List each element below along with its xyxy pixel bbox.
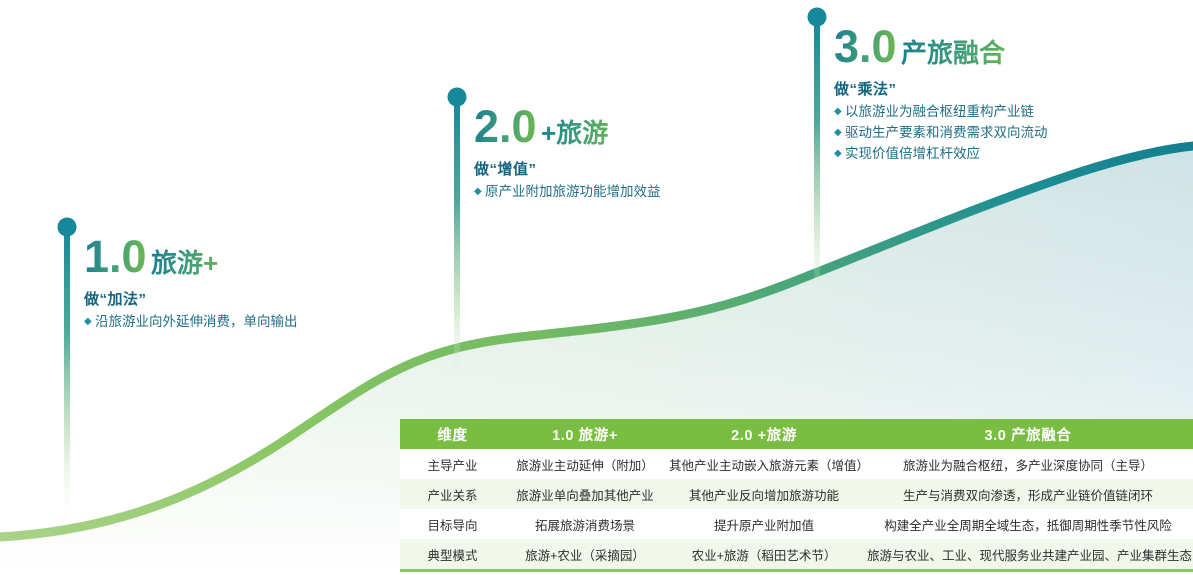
stage-title-2: +旅游 [541, 119, 608, 149]
cell-stage2: 农业+旅游（稻田艺术节） [665, 539, 863, 571]
cell-stage1: 旅游+农业（采摘园） [505, 539, 665, 571]
bullet-text: 以旅游业为融合枢纽重构产业链 [845, 104, 1034, 119]
cell-stage2: 其他产业主动嵌入旅游元素（增值） [665, 449, 863, 479]
stage-stem-1 [64, 228, 70, 528]
cell-stage1: 旅游业主动延伸（附加） [505, 449, 665, 479]
diamond-bullet-icon: ◆ [834, 123, 842, 143]
stage-dots [58, 8, 827, 237]
stage-subtitle-2: 做“增值” [474, 158, 661, 179]
column-header-stage3: 3.0 产旅融合 [863, 419, 1193, 449]
stage-bullets-2: ◆原产业附加旅游功能增加效益 [474, 182, 661, 203]
stage-bullets-3: ◆以旅游业为融合枢纽重构产业链 ◆驱动生产要素和消费需求双向流动 ◆实现价值倍增… [834, 102, 1048, 165]
stage-bullets-1: ◆沿旅游业向外延伸消费，单向输出 [84, 312, 298, 333]
list-item: ◆驱动生产要素和消费需求双向流动 [834, 123, 1048, 144]
cell-stage2: 提升原产业附加值 [665, 509, 863, 539]
table-row: 产业关系 旅游业单向叠加其他产业 其他产业反向增加旅游功能 生产与消费双向渗透，… [400, 479, 1193, 509]
cell-stage3: 生产与消费双向渗透，形成产业链价值链闭环 [863, 479, 1193, 509]
column-header-dimension: 维度 [400, 419, 505, 449]
infographic-canvas: 1.0 旅游+ 做“加法” ◆沿旅游业向外延伸消费，单向输出 2.0 +旅游 做… [0, 0, 1193, 575]
cell-stage1: 拓展旅游消费场景 [505, 509, 665, 539]
diamond-bullet-icon: ◆ [834, 102, 842, 122]
stage-block-2: 2.0 +旅游 做“增值” ◆原产业附加旅游功能增加效益 [474, 104, 661, 203]
stage-title-1: 旅游+ [151, 249, 218, 279]
column-header-stage1: 1.0 旅游+ [505, 419, 665, 449]
cell-stage3: 旅游与农业、工业、现代服务业共建产业园、产业集群生态 [863, 539, 1193, 571]
cell-stage2: 其他产业反向增加旅游功能 [665, 479, 863, 509]
bullet-text: 驱动生产要素和消费需求双向流动 [845, 125, 1048, 140]
stage-number-2: 2.0 [474, 104, 537, 149]
cell-dimension: 目标导向 [400, 509, 505, 539]
bullet-text: 原产业附加旅游功能增加效益 [485, 184, 661, 199]
cell-dimension: 典型模式 [400, 539, 505, 571]
cell-dimension: 主导产业 [400, 449, 505, 479]
stage-number-1: 1.0 [84, 234, 147, 279]
table-body: 主导产业 旅游业主动延伸（附加） 其他产业主动嵌入旅游元素（增值） 旅游业为融合… [400, 449, 1193, 571]
stage-stem-3 [814, 18, 820, 318]
table-row: 主导产业 旅游业主动延伸（附加） 其他产业主动嵌入旅游元素（增值） 旅游业为融合… [400, 449, 1193, 479]
table-row: 典型模式 旅游+农业（采摘园） 农业+旅游（稻田艺术节） 旅游与农业、工业、现代… [400, 539, 1193, 571]
bullet-text: 实现价值倍增杠杆效应 [845, 146, 980, 161]
cell-dimension: 产业关系 [400, 479, 505, 509]
table-row: 目标导向 拓展旅游消费场景 提升原产业附加值 构建全产业全周期全域生态，抵御周期… [400, 509, 1193, 539]
stage-dot-3 [808, 8, 827, 27]
cell-stage3: 构建全产业全周期全域生态，抵御周期性季节性风险 [863, 509, 1193, 539]
stage-dot-1 [58, 218, 77, 237]
stage-number-3: 3.0 [834, 24, 897, 69]
cell-stage1: 旅游业单向叠加其他产业 [505, 479, 665, 509]
comparison-table: 维度 1.0 旅游+ 2.0 +旅游 3.0 产旅融合 主导产业 旅游业主动延伸… [400, 419, 1193, 572]
stage-subtitle-3: 做“乘法” [834, 78, 1048, 99]
list-item: ◆以旅游业为融合枢纽重构产业链 [834, 102, 1048, 123]
bullet-text: 沿旅游业向外延伸消费，单向输出 [95, 314, 298, 329]
stage-block-1: 1.0 旅游+ 做“加法” ◆沿旅游业向外延伸消费，单向输出 [84, 234, 298, 333]
stage-stem-2 [454, 98, 460, 398]
cell-stage3: 旅游业为融合枢纽，多产业深度协同（主导） [863, 449, 1193, 479]
diamond-bullet-icon: ◆ [474, 182, 482, 202]
list-item: ◆沿旅游业向外延伸消费，单向输出 [84, 312, 298, 333]
list-item: ◆实现价值倍增杠杆效应 [834, 144, 1048, 165]
diamond-bullet-icon: ◆ [834, 144, 842, 164]
stage-block-3: 3.0 产旅融合 做“乘法” ◆以旅游业为融合枢纽重构产业链 ◆驱动生产要素和消… [834, 24, 1048, 165]
table-header-row: 维度 1.0 旅游+ 2.0 +旅游 3.0 产旅融合 [400, 419, 1193, 449]
column-header-stage2: 2.0 +旅游 [665, 419, 863, 449]
stage-dot-2 [448, 88, 467, 107]
stage-title-3: 产旅融合 [901, 39, 1005, 69]
stage-subtitle-1: 做“加法” [84, 288, 298, 309]
table-header: 维度 1.0 旅游+ 2.0 +旅游 3.0 产旅融合 [400, 419, 1193, 449]
list-item: ◆原产业附加旅游功能增加效益 [474, 182, 661, 203]
diamond-bullet-icon: ◆ [84, 312, 92, 332]
